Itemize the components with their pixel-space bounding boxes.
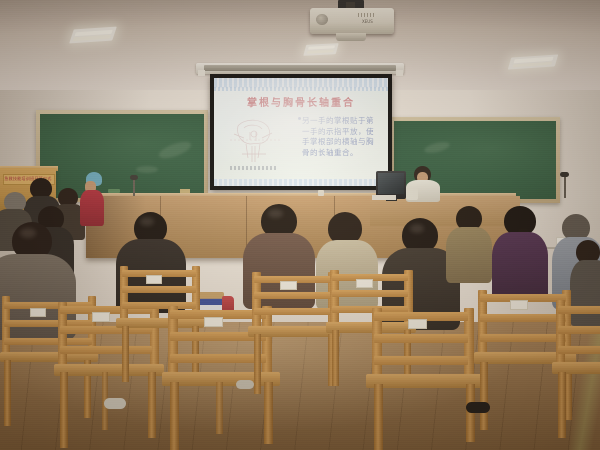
projector-base <box>336 33 366 41</box>
projector-vent <box>358 13 376 17</box>
chair-label <box>92 312 110 322</box>
screen-bracket-right <box>396 70 403 76</box>
slide-projection-glow <box>214 78 388 186</box>
presenter-arm <box>404 188 418 200</box>
projector-brand-label: XEUS <box>362 19 380 24</box>
microphone-stand-left <box>133 178 135 196</box>
projector-lens-icon <box>316 14 328 25</box>
chair-label <box>30 308 46 317</box>
chair-label <box>146 275 162 284</box>
screen-bracket-left <box>198 70 205 76</box>
chair-label <box>408 319 427 329</box>
microphone-right-icon <box>560 172 569 177</box>
cup-on-counter <box>318 190 324 196</box>
keyboard <box>372 195 396 200</box>
attendee-shoe <box>104 398 126 409</box>
chair-label <box>510 300 528 310</box>
presentation-slide: 掌根与胸骨长轴重合 另一手的掌根贴于第一手的示指平放，使手掌根部的横轴与胸骨的长… <box>214 78 388 186</box>
chair-label <box>280 281 297 290</box>
board-eraser <box>108 189 120 193</box>
ceiling-light-center <box>303 43 338 56</box>
microphone-stand-right <box>564 176 566 198</box>
chair-label <box>204 317 223 327</box>
chair-label <box>356 279 373 288</box>
blackboard-left-surface <box>40 114 204 198</box>
attendee-shoe <box>466 402 490 413</box>
chalk-tray-item <box>180 189 190 193</box>
projection-screen-roller <box>204 65 396 71</box>
lecture-hall-photo: XEUS 掌根与胸骨长轴重合 <box>0 0 600 450</box>
microphone-left-icon <box>130 175 138 180</box>
attendee-shoe <box>236 380 254 389</box>
crt-monitor-screen <box>378 173 404 194</box>
